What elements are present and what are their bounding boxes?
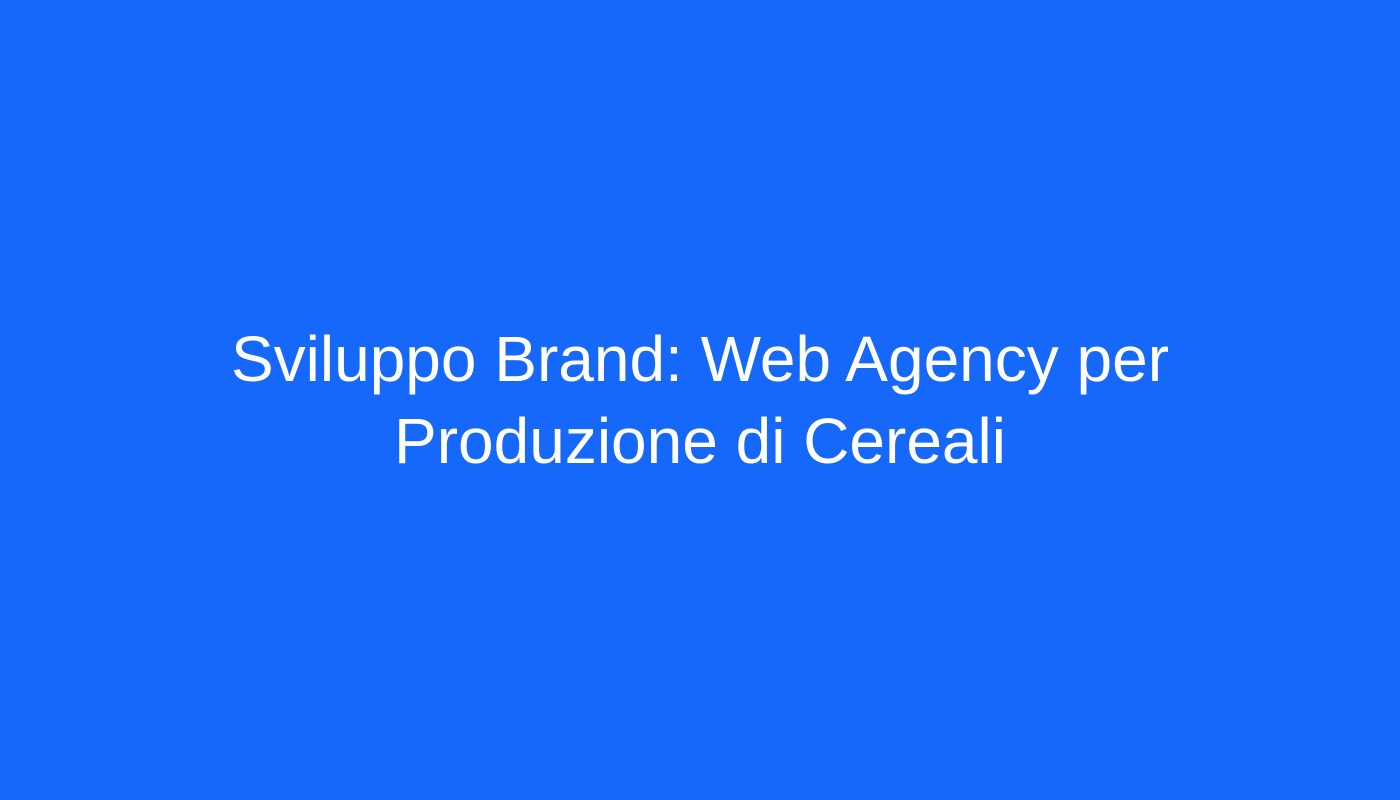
hero-content: Sviluppo Brand: Web Agency per Produzion…: [100, 318, 1300, 482]
hero-banner: Sviluppo Brand: Web Agency per Produzion…: [0, 0, 1400, 800]
page-title: Sviluppo Brand: Web Agency per Produzion…: [100, 318, 1300, 482]
